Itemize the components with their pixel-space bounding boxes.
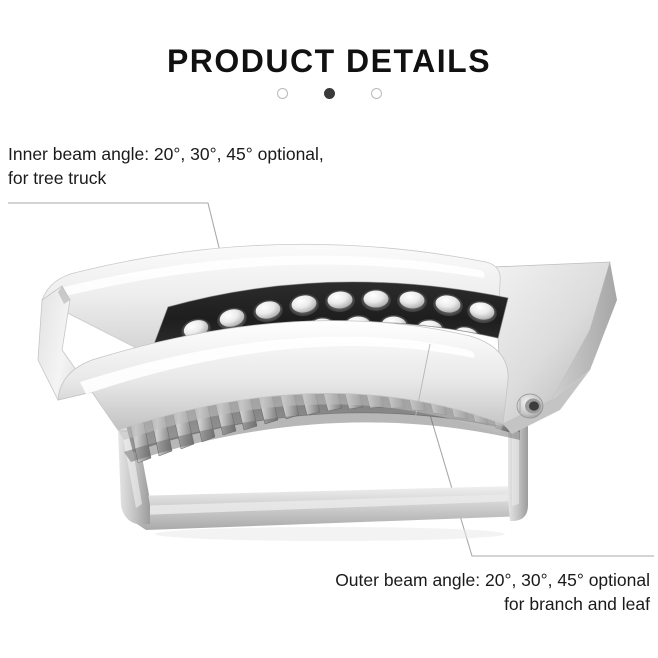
ground-shadow	[155, 527, 505, 541]
hex-bolt	[517, 394, 543, 418]
product-details-page: PRODUCT DETAILS Inner beam angle: 20°, 3…	[0, 0, 658, 658]
product-illustration	[0, 0, 658, 658]
